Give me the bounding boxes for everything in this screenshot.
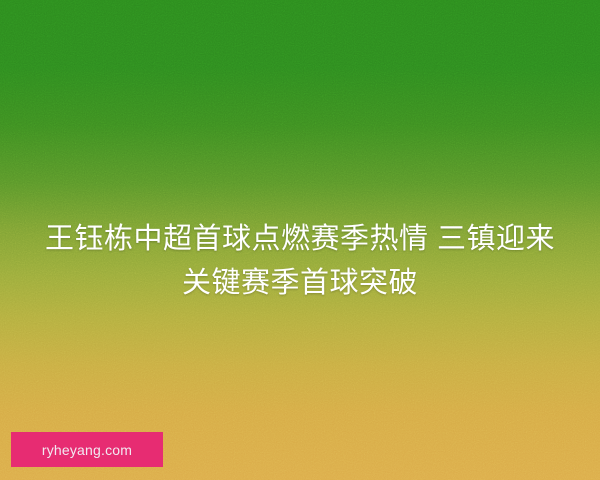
watermark-label: ryheyang.com <box>42 443 132 457</box>
article-cover-card: 王钰栋中超首球点燃赛季热情 三镇迎来关键赛季首球突破 ryheyang.com <box>0 0 600 480</box>
watermark-badge: ryheyang.com <box>11 432 163 467</box>
headline-text: 王钰栋中超首球点燃赛季热情 三镇迎来关键赛季首球突破 <box>0 217 600 305</box>
